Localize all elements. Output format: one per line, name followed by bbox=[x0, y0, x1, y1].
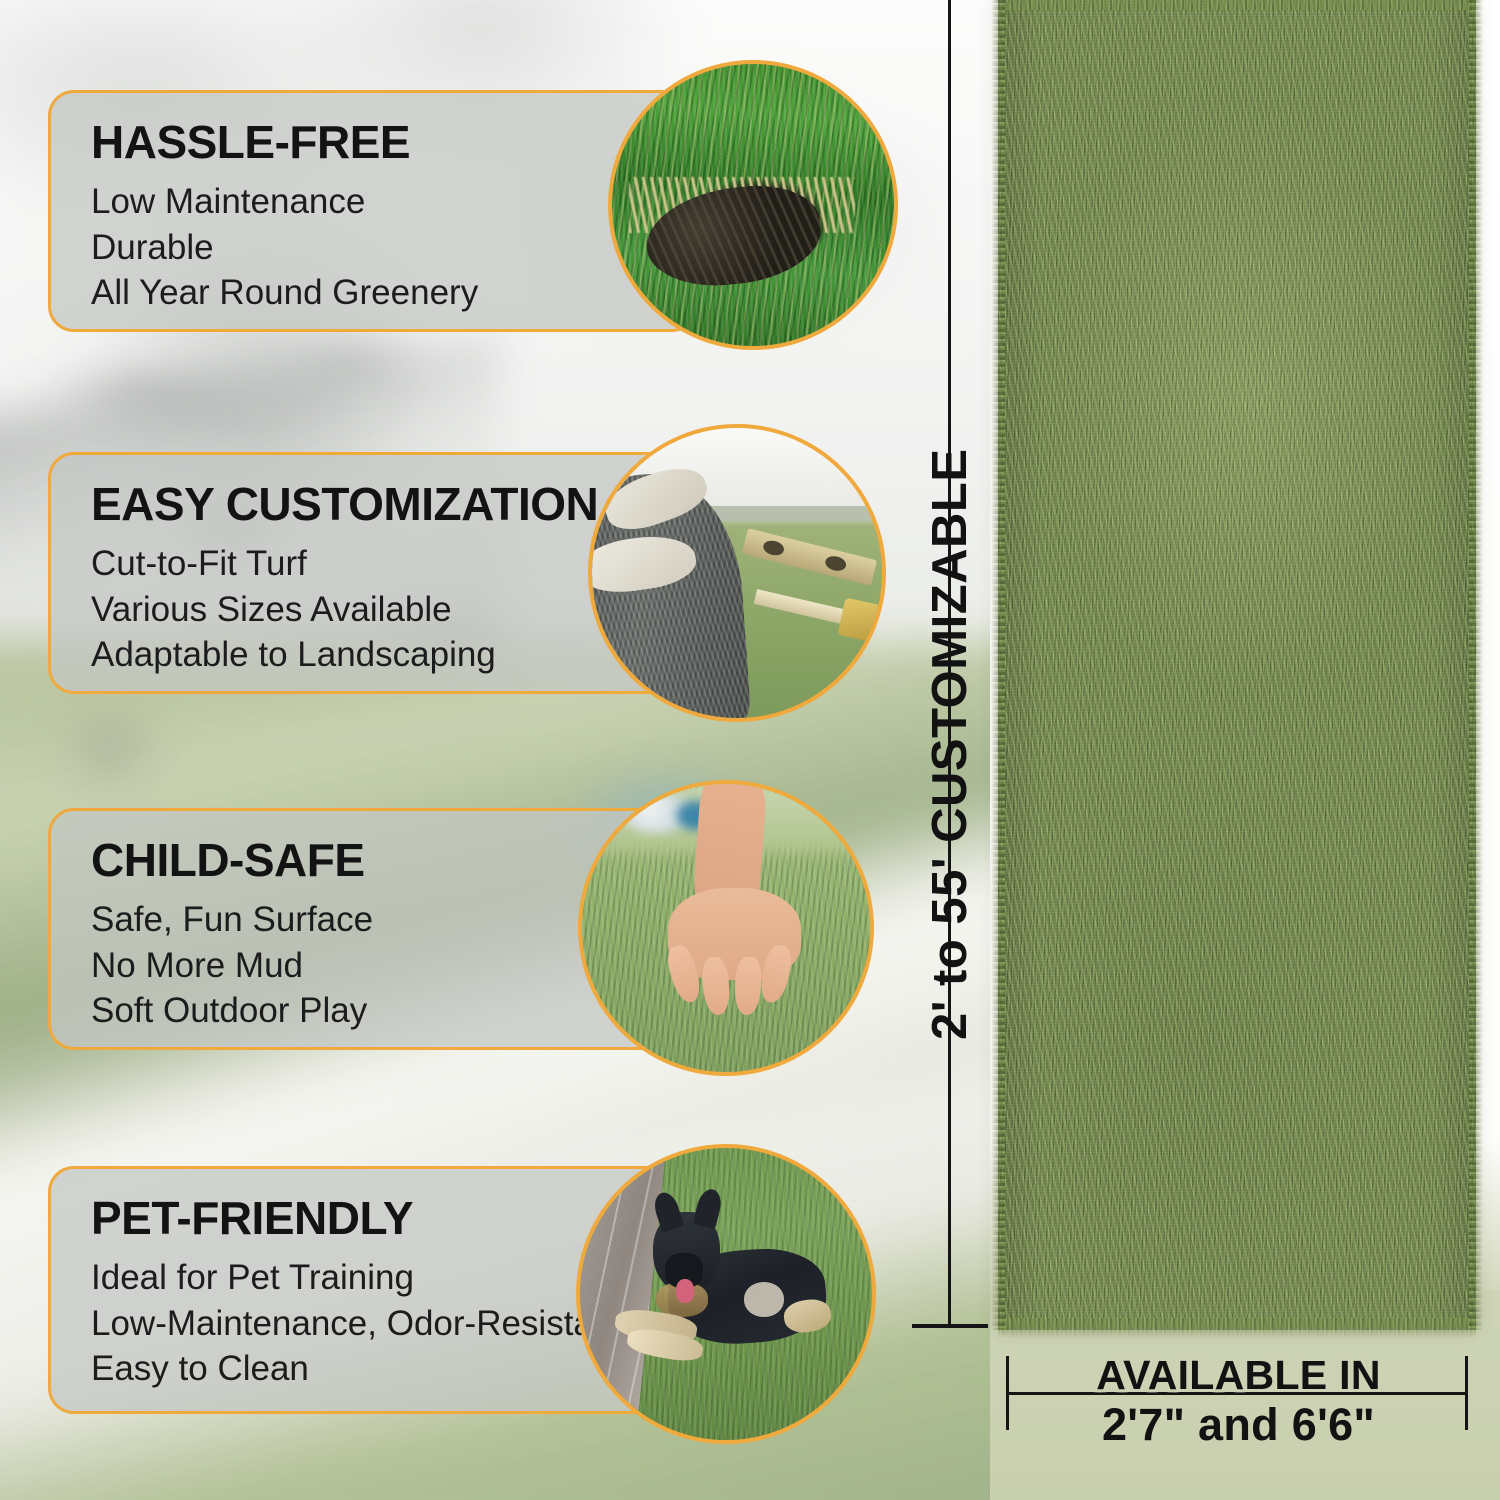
feature-photo-turf-cross-section bbox=[608, 60, 898, 350]
width-measure-label: AVAILABLE IN 2'7" and 6'6" bbox=[1006, 1355, 1471, 1447]
level-hole bbox=[823, 554, 847, 573]
feature-line: Low Maintenance bbox=[91, 179, 665, 225]
feature-line: Soft Outdoor Play bbox=[91, 988, 645, 1034]
length-measure-end-tick bbox=[912, 1324, 988, 1328]
dog-tongue bbox=[676, 1279, 694, 1302]
available-in-label: AVAILABLE IN bbox=[1006, 1355, 1471, 1396]
available-sizes-label: 2'7" and 6'6" bbox=[1006, 1402, 1471, 1447]
feature-title: CHILD-SAFE bbox=[91, 837, 645, 883]
feature-card-text: PET-FRIENDLY Ideal for Pet Training Low-… bbox=[91, 1195, 645, 1392]
feature-photo-dog bbox=[576, 1144, 876, 1444]
feature-line: All Year Round Greenery bbox=[91, 270, 665, 316]
paver-walkway bbox=[580, 1148, 667, 1440]
tape-measure-body bbox=[838, 598, 882, 645]
feature-title: PET-FRIENDLY bbox=[91, 1195, 645, 1241]
infographic-root: 2' to 55' CUSTOMIZABLE AVAILABLE IN 2'7"… bbox=[0, 0, 1500, 1500]
feature-line: Adaptable to Landscaping bbox=[91, 632, 655, 678]
dog-ear-right bbox=[693, 1187, 725, 1229]
feature-title: EASY CUSTOMIZATION bbox=[91, 481, 655, 527]
feature-card-text: HASSLE-FREE Low Maintenance Durable All … bbox=[91, 119, 665, 316]
spirit-level-tool bbox=[742, 528, 878, 586]
photo-inner bbox=[580, 1148, 872, 1440]
child-finger bbox=[733, 956, 762, 1015]
feature-card-body: HASSLE-FREE Low Maintenance Durable All … bbox=[48, 90, 698, 332]
feature-line: No More Mud bbox=[91, 943, 645, 989]
feature-line: Low-Maintenance, Odor-Resistant bbox=[91, 1301, 645, 1347]
feature-title: HASSLE-FREE bbox=[91, 119, 665, 165]
feature-line: Cut-to-Fit Turf bbox=[91, 541, 655, 587]
photo-inner bbox=[582, 784, 870, 1072]
turf-fringe-top bbox=[998, 0, 1476, 10]
feature-line: Durable bbox=[91, 225, 665, 271]
turf-roll-product-image bbox=[998, 0, 1476, 1330]
turf-fringe-bottom bbox=[998, 1318, 1476, 1338]
feature-line: Various Sizes Available bbox=[91, 587, 655, 633]
feature-photo-child-hand bbox=[578, 780, 874, 1076]
feature-line: Ideal for Pet Training bbox=[91, 1255, 645, 1301]
turf-edge-left bbox=[991, 0, 1005, 1330]
feature-photo-installation bbox=[588, 424, 886, 722]
feature-card-text: EASY CUSTOMIZATION Cut-to-Fit Turf Vario… bbox=[91, 481, 655, 678]
feature-card-text: CHILD-SAFE Safe, Fun Surface No More Mud… bbox=[91, 837, 645, 1034]
turf-edge-right bbox=[1469, 0, 1483, 1330]
photo-inner bbox=[612, 64, 894, 346]
photo-inner bbox=[592, 428, 882, 718]
feature-line: Easy to Clean bbox=[91, 1346, 645, 1392]
length-measure-label: 2' to 55' CUSTOMIZABLE bbox=[922, 448, 978, 1040]
feature-line: Safe, Fun Surface bbox=[91, 897, 645, 943]
level-hole bbox=[761, 538, 785, 557]
